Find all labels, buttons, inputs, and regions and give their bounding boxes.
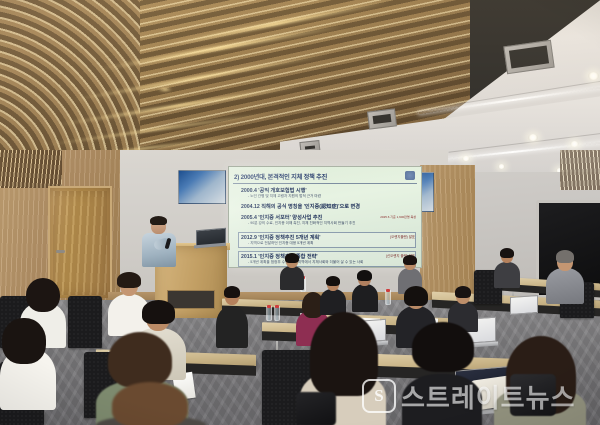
- audience-member: [352, 270, 378, 310]
- person-hair: [326, 276, 340, 286]
- person-hair: [500, 248, 514, 258]
- person-hair: [224, 286, 240, 298]
- backpack: [510, 374, 556, 416]
- screen-glare: [229, 167, 421, 267]
- audience-laptop: [510, 295, 538, 315]
- seminar-room-photo: 2) 2000년대, 본격적인 지체 정책 추진 2000.4 '공익 개호보험…: [0, 0, 600, 425]
- person-torso: [280, 266, 304, 290]
- door-handle-icon[interactable]: [56, 250, 65, 253]
- person-torso: [494, 262, 520, 288]
- water-bottle: [385, 290, 391, 305]
- water-bottle: [266, 306, 272, 321]
- left-wall-slat-detail: [0, 150, 62, 188]
- projection-screen: 2) 2000년대, 본격적인 지체 정책 추진 2000.4 '공익 개호보험…: [228, 166, 422, 268]
- person-hair: [142, 300, 175, 324]
- bottle-cap: [267, 305, 271, 308]
- glasses-icon: [152, 224, 165, 228]
- audience-member: [280, 253, 304, 287]
- person-torso: [546, 268, 584, 304]
- bottle-cap: [386, 289, 390, 292]
- person-hair: [403, 255, 417, 265]
- audience-member-foreground: [402, 322, 482, 425]
- person-hair: [404, 286, 428, 306]
- person-hair: [108, 332, 172, 388]
- person-hair: [117, 272, 141, 288]
- person-hair: [2, 318, 46, 364]
- ceiling-downlight: [462, 156, 470, 161]
- presenter: [142, 217, 176, 265]
- left-blue-banner: [178, 170, 226, 204]
- water-bottle: [274, 306, 280, 321]
- audience-member: [320, 276, 346, 312]
- bottle-cap: [275, 305, 279, 308]
- ceiling-downlight: [498, 164, 505, 169]
- bag: [296, 392, 336, 425]
- right-ceiling-wood-edge: [560, 150, 600, 190]
- person-hair: [455, 286, 471, 298]
- person-hair: [556, 250, 574, 263]
- person-hair: [112, 382, 188, 425]
- audience-member-foreground: [96, 382, 206, 425]
- laptop-screen: [510, 295, 538, 315]
- audience-member: [216, 286, 248, 344]
- person-hair: [412, 322, 474, 372]
- person-torso: [402, 374, 482, 425]
- ceiling-downlight: [588, 72, 599, 80]
- person-torso: [216, 306, 248, 348]
- audience-member: [494, 248, 520, 286]
- audience-member-senior: [546, 250, 584, 302]
- person-hair: [310, 312, 378, 396]
- audience-member: [0, 318, 56, 406]
- ceiling-downlight: [570, 141, 579, 147]
- person-hair: [285, 253, 299, 263]
- person-hair: [26, 278, 60, 312]
- ceiling-air-vent: [367, 108, 397, 129]
- ceiling-light-spot: [158, 88, 172, 91]
- ceiling-downlight: [528, 134, 538, 141]
- person-hair: [357, 270, 372, 281]
- person-torso: [352, 284, 378, 312]
